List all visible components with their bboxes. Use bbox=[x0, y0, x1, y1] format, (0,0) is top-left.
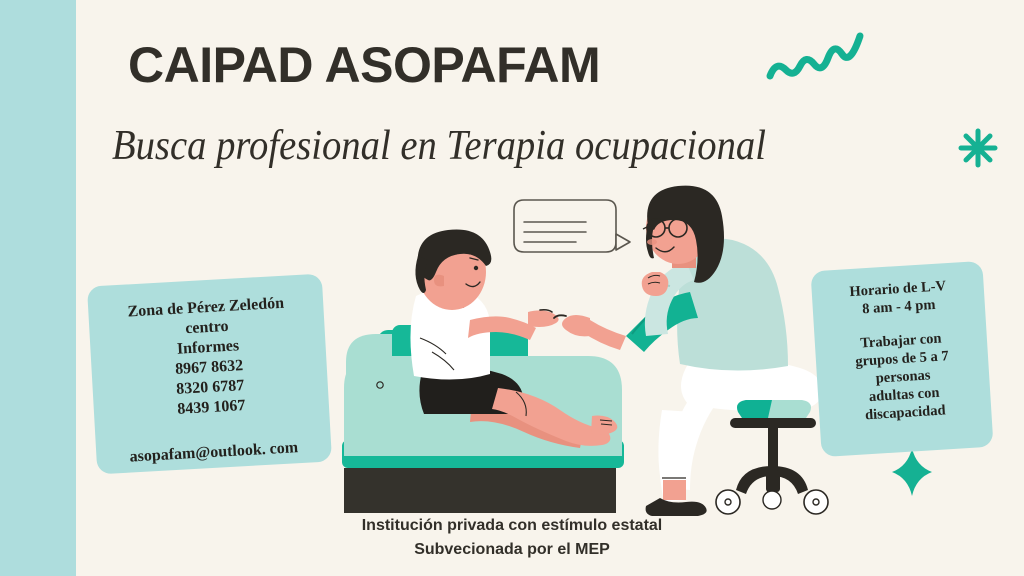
footer-line: Institución privada con estímulo estatal bbox=[0, 514, 1024, 538]
poster-canvas: CAIPAD ASOPAFAM Busca profesional en Ter… bbox=[0, 0, 1024, 576]
sparkle-icon bbox=[892, 448, 932, 496]
contact-email[interactable]: asopafam@outlook. com bbox=[96, 437, 332, 468]
contact-card: Zona de Pérez Zeledón centro Informes 89… bbox=[87, 274, 332, 475]
details-card: Horario de L-V 8 am - 4 pm Trabajar con … bbox=[810, 261, 993, 457]
asterisk-icon bbox=[958, 128, 998, 168]
footer-line: Subvecionada por el MEP bbox=[0, 538, 1024, 562]
left-accent-band bbox=[0, 0, 76, 576]
page-title: CAIPAD ASOPAFAM bbox=[128, 36, 600, 94]
squiggle-icon bbox=[762, 30, 872, 86]
page-subtitle: Busca profesional en Terapia ocupacional bbox=[112, 122, 766, 170]
footer-note: Institución privada con estímulo estatal… bbox=[0, 514, 1024, 562]
